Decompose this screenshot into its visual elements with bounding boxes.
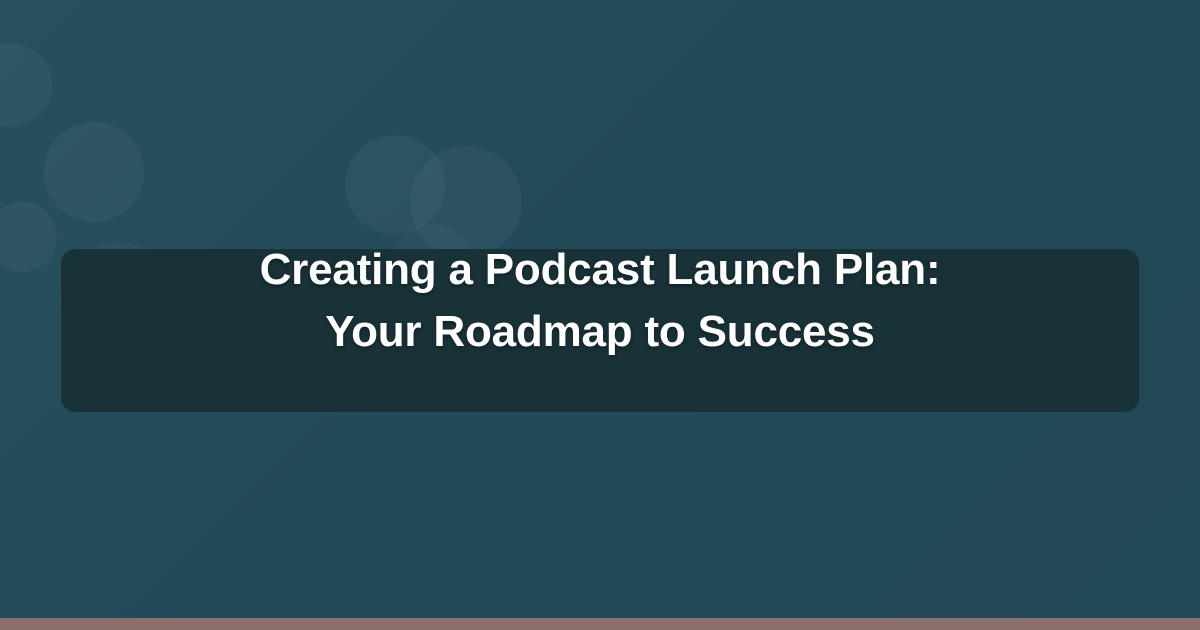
bottom-accent-strip <box>0 618 1200 630</box>
page-title: Creating a Podcast Launch Plan: Your Roa… <box>0 239 1200 363</box>
social-card-canvas: Creating a Podcast Launch Plan: Your Roa… <box>0 0 1200 630</box>
